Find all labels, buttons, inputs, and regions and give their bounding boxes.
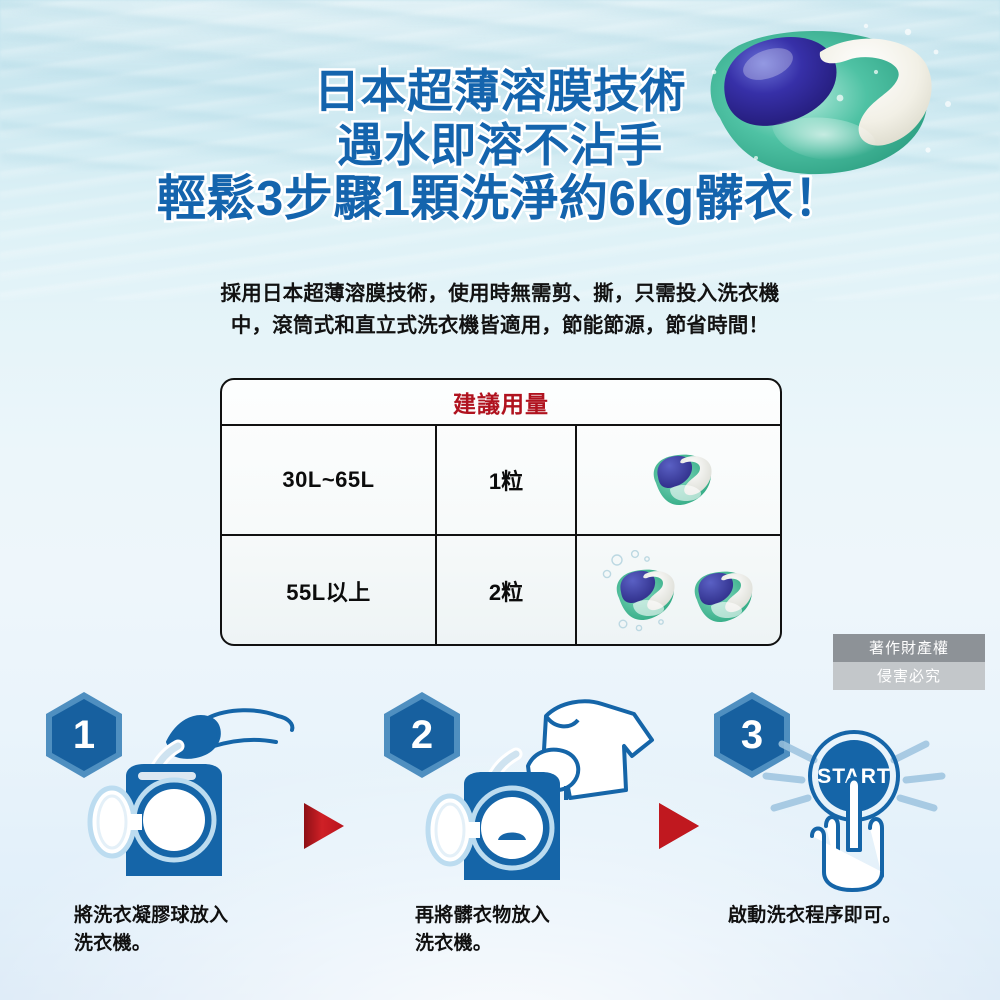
step-caption-1-line-2: 洗衣機。 — [74, 930, 354, 958]
cell-capacity: 55L以上 — [222, 536, 437, 646]
step-caption-2: 再將髒衣物放入 洗衣機。 — [415, 902, 695, 957]
copyright-line-2: 侵害必究 — [833, 662, 985, 690]
play-triangle-icon — [300, 800, 346, 852]
step-2: 2 — [360, 690, 670, 990]
cell-pod-illustration — [577, 536, 780, 646]
step-caption-2-line-2: 洗衣機。 — [415, 930, 695, 958]
step-1: 1 — [22, 690, 332, 990]
paragraph-line-2: 中，滾筒式和直立式洗衣機皆適用，節能節源，節省時間！ — [0, 310, 1000, 342]
step-caption-1: 將洗衣凝膠球放入 洗衣機。 — [74, 902, 354, 957]
step-illustration-2 — [420, 698, 670, 903]
cell-capacity: 30L~65L — [222, 426, 437, 534]
step-3: 3 START — [690, 690, 1000, 990]
copyright-badge: 著作財產權 侵害必究 — [833, 634, 985, 690]
step-caption-2-line-1: 再將髒衣物放入 — [415, 902, 695, 930]
step-arrow-1 — [300, 800, 346, 852]
table-row: 55L以上 2粒 — [222, 536, 780, 646]
hero-laundry-pod-image — [660, 8, 960, 198]
paragraph-line-1: 採用日本超薄溶膜技術，使用時無需剪、撕，只需投入洗衣機 — [0, 278, 1000, 310]
description-paragraph: 採用日本超薄溶膜技術，使用時無需剪、撕，只需投入洗衣機 中，滾筒式和直立式洗衣機… — [0, 278, 1000, 342]
cell-pod-illustration — [577, 426, 780, 534]
pod-icon — [642, 449, 716, 511]
cell-amount: 2粒 — [437, 536, 577, 646]
cell-amount: 1粒 — [437, 426, 577, 534]
dosage-table: 建議用量 30L~65L 1粒 — [220, 378, 782, 646]
step-caption-3-line-1: 啟動洗衣程序即可。 — [728, 902, 1000, 930]
copyright-line-1: 著作財產權 — [833, 634, 985, 662]
step-caption-3: 啟動洗衣程序即可。 — [728, 902, 1000, 930]
step-caption-1-line-1: 將洗衣凝膠球放入 — [74, 902, 354, 930]
table-row: 30L~65L 1粒 — [222, 426, 780, 536]
dosage-table-title: 建議用量 — [222, 380, 780, 426]
infographic-page: 日本超薄溶膜技術 遇水即溶不沾手 輕鬆3步驟1顆洗淨約6kg髒衣！ 採用日本超薄… — [0, 0, 1000, 1000]
step-illustration-3: START — [730, 710, 980, 915]
step-illustration-1 — [82, 698, 332, 903]
pod-pair-icon — [601, 550, 757, 632]
